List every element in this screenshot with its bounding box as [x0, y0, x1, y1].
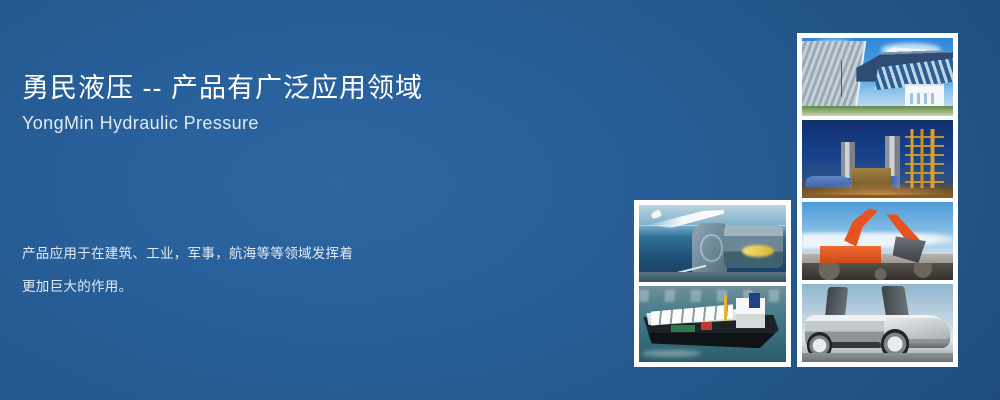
description-line-2: 更加巨大的作用。	[22, 270, 492, 303]
bow-foam	[642, 350, 701, 358]
convention-center-architecture-photo	[802, 38, 953, 116]
ship-deck	[639, 272, 786, 281]
green-deck-cargo	[671, 325, 695, 332]
ship-funnel	[749, 293, 759, 308]
excavator-photo	[802, 202, 953, 280]
landscaped-ground	[802, 106, 953, 116]
photo-card-left	[634, 200, 791, 367]
deck-crane-forward	[724, 295, 727, 321]
banner-description: 产品应用于在建筑、工业，军事，航海等等领域发挥着 更加巨大的作用。	[22, 237, 492, 303]
studio-floor	[802, 353, 953, 362]
petrochemical-plant-photo	[802, 120, 953, 198]
page-subtitle: YongMin Hydraulic Pressure	[22, 110, 582, 136]
missile-icon	[650, 209, 662, 220]
sunset-glow	[802, 182, 953, 194]
hero-banner: 勇民液压 -- 产品有广泛应用领域 YongMin Hydraulic Pres…	[0, 0, 1000, 400]
car-side-sill	[829, 342, 880, 348]
naval-missile-launch-photo	[639, 205, 786, 282]
banner-text-block: 勇民液压 -- 产品有广泛应用领域 YongMin Hydraulic Pres…	[22, 68, 582, 136]
rubble-ground	[802, 263, 953, 280]
description-line-1: 产品应用于在建筑、工业，军事，航海等等领域发挥着	[22, 237, 492, 270]
launch-flame	[742, 245, 774, 257]
cargo-ship-photo	[639, 286, 786, 363]
red-deck-cargo	[701, 322, 713, 330]
street-lamp	[841, 61, 842, 97]
photo-card-right	[797, 33, 958, 367]
concept-car-photo	[802, 284, 953, 362]
page-title: 勇民液压 -- 产品有广泛应用领域	[22, 68, 582, 108]
